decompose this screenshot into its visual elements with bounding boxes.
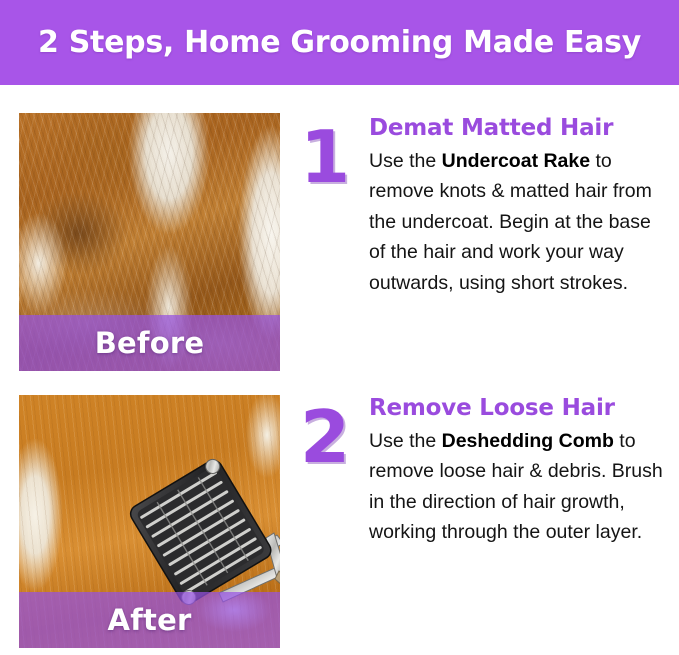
step-2-number: 2: [300, 401, 366, 473]
after-label-text: After: [108, 603, 192, 637]
step-1-product-name: Undercoat Rake: [442, 150, 590, 172]
step-2-heading: Remove Loose Hair: [369, 395, 669, 421]
steps-area: Before 1 Demat Matted Hair Use the Under…: [0, 85, 679, 655]
step-2-text-block: Remove Loose Hair Use the Deshedding Com…: [369, 395, 669, 548]
before-label-band: Before: [19, 315, 280, 371]
header-banner: 2 Steps, Home Grooming Made Easy: [0, 0, 679, 85]
step-row-2: After 2 Remove Loose Hair Use the Deshed…: [0, 395, 679, 648]
step-2-body-lead: Use the: [369, 430, 442, 452]
step-1-text-block: Demat Matted Hair Use the Undercoat Rake…: [369, 115, 669, 298]
step-2-body: Use the Deshedding Comb to remove loose …: [369, 426, 669, 548]
step-1-body-lead: Use the: [369, 150, 442, 172]
step-1-body: Use the Undercoat Rake to remove knots &…: [369, 146, 669, 298]
step-1-photo-before: Before: [19, 113, 280, 371]
step-1-heading: Demat Matted Hair: [369, 115, 669, 141]
step-row-1: Before 1 Demat Matted Hair Use the Under…: [0, 113, 679, 383]
page-title: 2 Steps, Home Grooming Made Easy: [38, 25, 641, 60]
step-1-number: 1: [300, 121, 366, 193]
after-label-band: After: [19, 592, 280, 648]
step-2-photo-after: After: [19, 395, 280, 648]
step-2-product-name: Deshedding Comb: [442, 430, 614, 452]
before-label-text: Before: [95, 326, 204, 360]
